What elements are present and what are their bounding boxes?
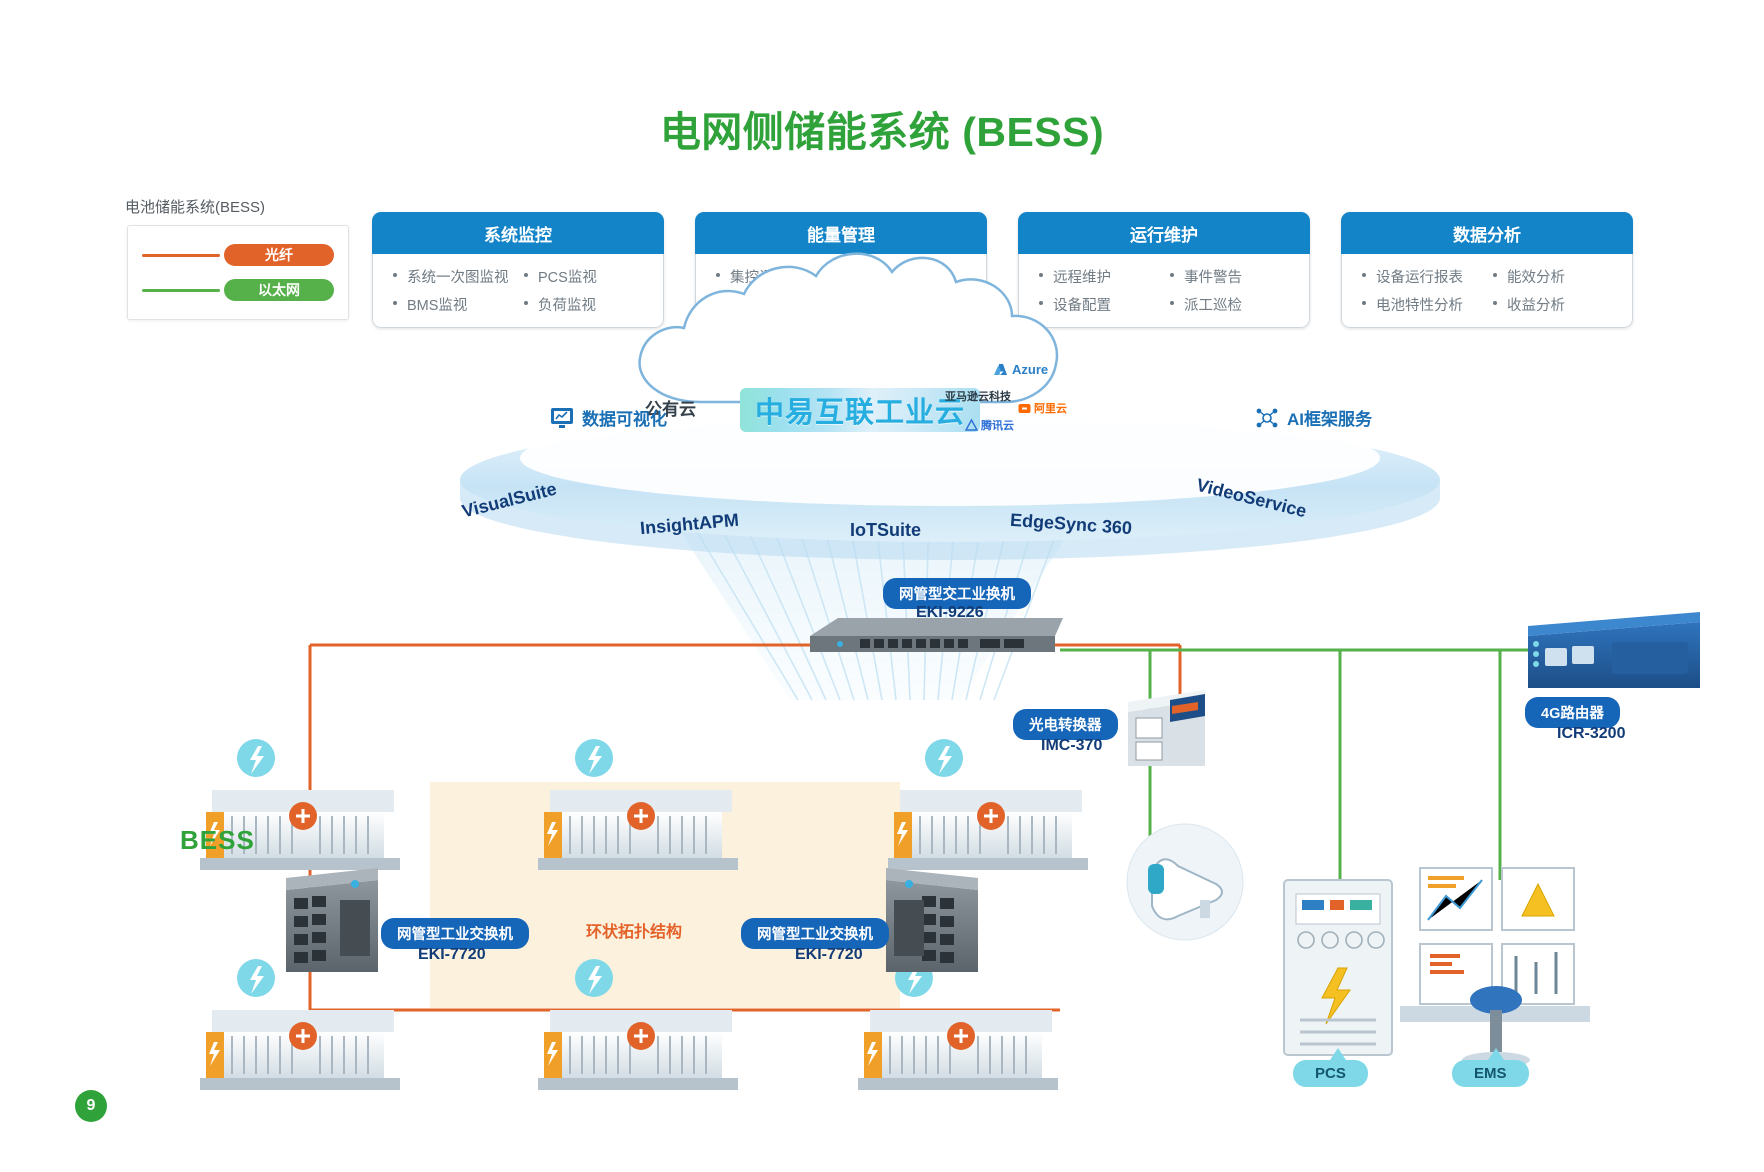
card-item: BMS监视: [393, 294, 516, 315]
azure-label: Azure: [1012, 362, 1048, 377]
card-item: 系统一次图监视: [393, 266, 516, 287]
card-item: 收益分析: [1493, 294, 1616, 315]
bess-container: [538, 959, 738, 1090]
feature-card-data-analysis: 数据分析 设备运行报表 能效分析 电池特性分析 收益分析: [1341, 212, 1633, 328]
switch-left-model: EKI-7720: [418, 946, 486, 964]
page-number-badge: 9: [75, 1090, 107, 1122]
switch-left-label: 网管型工业交换机: [381, 918, 529, 949]
alibaba-cloud-icon: [1018, 402, 1031, 415]
azure-vendor-logo: Azure: [993, 362, 1048, 377]
feature-card-operation-maintenance: 运行维护 远程维护 事件警告 设备配置 派工巡检: [1018, 212, 1310, 328]
azure-icon: [993, 363, 1008, 377]
media-converter-graphic: [1128, 690, 1205, 766]
card-item: 电池特性分析: [1362, 294, 1485, 315]
camera-graphic: [1127, 824, 1243, 940]
router-model: ICR-3200: [1557, 725, 1625, 743]
feature-card-system-monitoring: 系统监控 系统一次图监视 PCS监视 BMS监视 负荷监视: [372, 212, 664, 328]
switch-right-model: EKI-7720: [795, 946, 863, 964]
bess-container: [538, 739, 738, 870]
ring-label-insightapm: InsightAPM: [639, 510, 739, 540]
ai-framework-icon: [1255, 406, 1279, 430]
bess-container: [200, 959, 400, 1090]
media-converter-model: IMC-370: [1041, 737, 1102, 755]
pcs-cabinet-graphic: [1284, 880, 1392, 1055]
card-item: 集控调度: [716, 266, 839, 287]
ai-framework-tag: AI框架服务: [1255, 405, 1372, 430]
bess-containers: [200, 739, 1088, 1090]
bess-container: [888, 739, 1088, 870]
ring-topology-label: 环状拓扑结构: [586, 918, 682, 942]
tencent-cloud-icon: [965, 419, 978, 432]
legend-line-fiber: [142, 254, 220, 257]
switch-right-graphic: [886, 868, 978, 972]
alibaba-cloud-vendor-logo: 阿里云: [1018, 400, 1067, 416]
data-visualization-icon: [550, 407, 574, 429]
card-item: 设备运行报表: [1362, 266, 1485, 287]
legend-item-ethernet: 以太网: [142, 279, 334, 301]
bess-word-label: BESS: [180, 825, 255, 856]
media-converter-label: 光电转换器: [1013, 709, 1118, 740]
legend-pill-ethernet: 以太网: [224, 279, 334, 301]
ems-label: EMS: [1452, 1060, 1529, 1087]
ai-framework-label: AI框架服务: [1287, 405, 1372, 430]
pcs-label: PCS: [1293, 1060, 1368, 1087]
ems-workstation-graphic: [1400, 868, 1590, 1068]
switch-right-label: 网管型工业交换机: [741, 918, 889, 949]
ring-label-iotsuite: IoTSuite: [850, 520, 921, 541]
data-visualization-label: 数据可视化: [582, 405, 667, 430]
card-item: 削峰填谷: [716, 294, 839, 315]
feature-card-energy-management: 能量管理 集控调度 应急备电 削峰填谷 调频调峰: [695, 212, 987, 328]
switch-left-graphic: [286, 868, 378, 972]
page-title: 电网侧储能系统 (BESS): [0, 98, 1764, 158]
ring-label-visualsuite: VisualSuite: [460, 479, 559, 523]
card-item: 设备配置: [1039, 294, 1162, 315]
card-item: 派工巡检: [1170, 294, 1293, 315]
card-body: 远程维护 事件警告 设备配置 派工巡检: [1018, 254, 1310, 328]
legend-box: 光纤 以太网: [127, 225, 349, 320]
card-title: 运行维护: [1018, 212, 1310, 254]
tencent-cloud-vendor-logo: 腾讯云: [965, 417, 1014, 433]
data-visualization-tag: 数据可视化: [550, 405, 667, 430]
card-item: 调频调峰: [847, 294, 970, 315]
core-switch-model: EKI-9226: [916, 604, 984, 622]
alibaba-label: 阿里云: [1034, 400, 1067, 416]
legend-line-ethernet: [142, 289, 220, 292]
card-item: 应急备电: [847, 266, 970, 287]
feature-card-list: 系统监控 系统一次图监视 PCS监视 BMS监视 负荷监视 能量管理 集控调度 …: [372, 212, 1633, 328]
card-item: PCS监视: [524, 266, 647, 287]
card-item: 远程维护: [1039, 266, 1162, 287]
ring-label-edgesync360: EdgeSync 360: [1009, 510, 1132, 539]
aws-label: 亚马逊云科技: [945, 391, 1011, 403]
card-item: 负荷监视: [524, 294, 647, 315]
card-title: 能量管理: [695, 212, 987, 254]
card-item: 事件警告: [1170, 266, 1293, 287]
card-title: 数据分析: [1341, 212, 1633, 254]
aws-vendor-logo: 亚马逊云科技: [945, 388, 1011, 404]
bess-container: [858, 959, 1058, 1090]
card-item: 能效分析: [1493, 266, 1616, 287]
router-label: 4G路由器: [1525, 697, 1620, 728]
tencent-label: 腾讯云: [981, 417, 1014, 433]
legend-caption: 电池储能系统(BESS): [125, 196, 265, 217]
legend-pill-fiber: 光纤: [224, 244, 334, 266]
card-title: 系统监控: [372, 212, 664, 254]
cloud-brand-logo: 中易互联工业云: [740, 388, 980, 432]
slide-root: 电网侧储能系统 (BESS) 电池储能系统(BESS) 光纤 以太网 系统监控 …: [0, 0, 1764, 1172]
ring-label-videoservice: VideoService: [1194, 475, 1308, 523]
core-switch-graphic: [810, 618, 1063, 652]
platform-ring-labels: VisualSuite InsightAPM IoTSuite EdgeSync…: [455, 440, 1440, 555]
router-graphic: [1528, 612, 1700, 688]
card-body: 设备运行报表 能效分析 电池特性分析 收益分析: [1341, 254, 1633, 328]
card-body: 集控调度 应急备电 削峰填谷 调频调峰: [695, 254, 987, 328]
ethernet-links: [1060, 640, 1560, 890]
card-body: 系统一次图监视 PCS监视 BMS监视 负荷监视: [372, 254, 664, 328]
legend-item-fiber: 光纤: [142, 244, 334, 266]
diagram-canvas: [0, 0, 1764, 1172]
